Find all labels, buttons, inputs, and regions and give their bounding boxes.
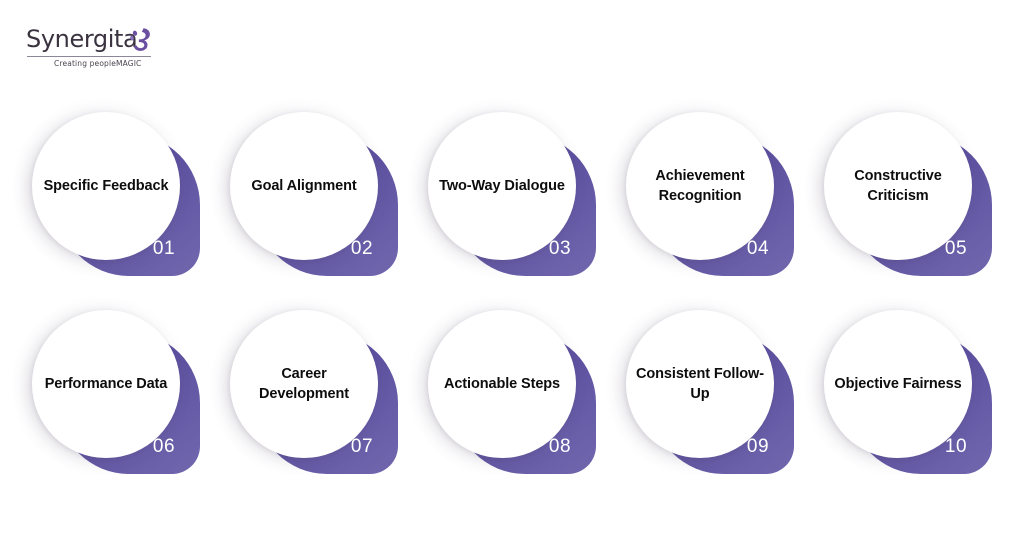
circle-card[interactable]: Career Development 07 xyxy=(220,302,418,500)
circle-card[interactable]: Constructive Criticism 05 xyxy=(814,104,1012,302)
circle-card[interactable]: Achievement Recognition 04 xyxy=(616,104,814,302)
circle-card-number: 10 xyxy=(932,436,980,458)
circle-card[interactable]: Objective Fairness 10 xyxy=(814,302,1012,500)
brand-tagline: Creating peopleMAGIC xyxy=(54,59,141,68)
circle-card[interactable]: Performance Data 06 xyxy=(22,302,220,500)
circle-card-number: 09 xyxy=(734,436,782,458)
circle-card-number: 02 xyxy=(338,238,386,260)
circle-card[interactable]: Actionable Steps 08 xyxy=(418,302,616,500)
numbered-circle-grid: Specific Feedback 01 Goal Alignment 02 T… xyxy=(22,104,1012,500)
circle-card-number: 05 xyxy=(932,238,980,260)
circle-card-number: 03 xyxy=(536,238,584,260)
circle-card-number: 06 xyxy=(140,436,188,458)
brand-divider xyxy=(27,56,151,57)
circle-card[interactable]: Specific Feedback 01 xyxy=(22,104,220,302)
circle-card[interactable]: Two-Way Dialogue 03 xyxy=(418,104,616,302)
brand-logo: Synergita Creating peopleMAGIC xyxy=(26,26,156,74)
circle-card[interactable]: Consistent Follow-Up 09 xyxy=(616,302,814,500)
synergita-swirl-icon xyxy=(129,27,151,53)
circle-card[interactable]: Goal Alignment 02 xyxy=(220,104,418,302)
circle-card-number: 08 xyxy=(536,436,584,458)
circle-card-number: 07 xyxy=(338,436,386,458)
circle-card-number: 04 xyxy=(734,238,782,260)
circle-card-number: 01 xyxy=(140,238,188,260)
